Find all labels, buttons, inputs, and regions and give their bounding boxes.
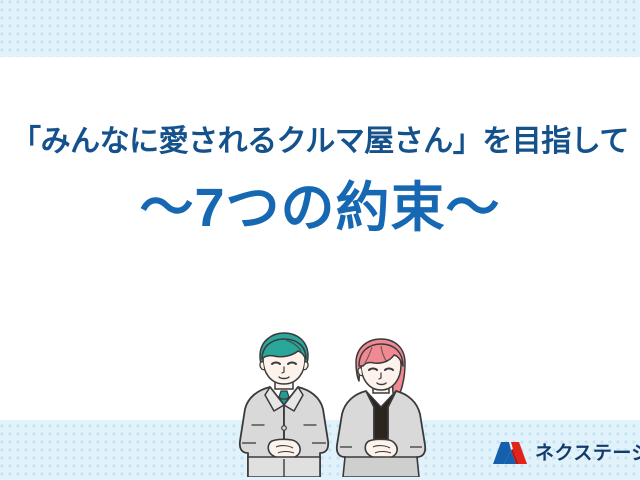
headline-block: 「みんなに愛されるクルマ屋さん」を目指して ～7つの約束～ bbox=[0, 57, 640, 235]
white-content-panel: 「みんなに愛されるクルマ屋さん」を目指して ～7つの約束～ bbox=[0, 57, 640, 420]
slide-canvas: 「みんなに愛されるクルマ屋さん」を目指して ～7つの約束～ bbox=[0, 0, 640, 480]
nexstage-n-mark-icon bbox=[492, 440, 528, 466]
nexstage-wordmark: ネクステージ bbox=[535, 444, 640, 463]
two-bowing-staff-illustration bbox=[234, 329, 430, 477]
staff-illustration-svg bbox=[234, 329, 430, 477]
female-staff-figure bbox=[337, 339, 425, 477]
headline-primary: 「みんなに愛されるクルマ屋さん」を目指して bbox=[0, 57, 640, 157]
headline-secondary: ～7つの約束～ bbox=[0, 157, 640, 235]
nexstage-logo: ネクステージ bbox=[492, 436, 640, 470]
male-staff-figure bbox=[240, 333, 328, 477]
